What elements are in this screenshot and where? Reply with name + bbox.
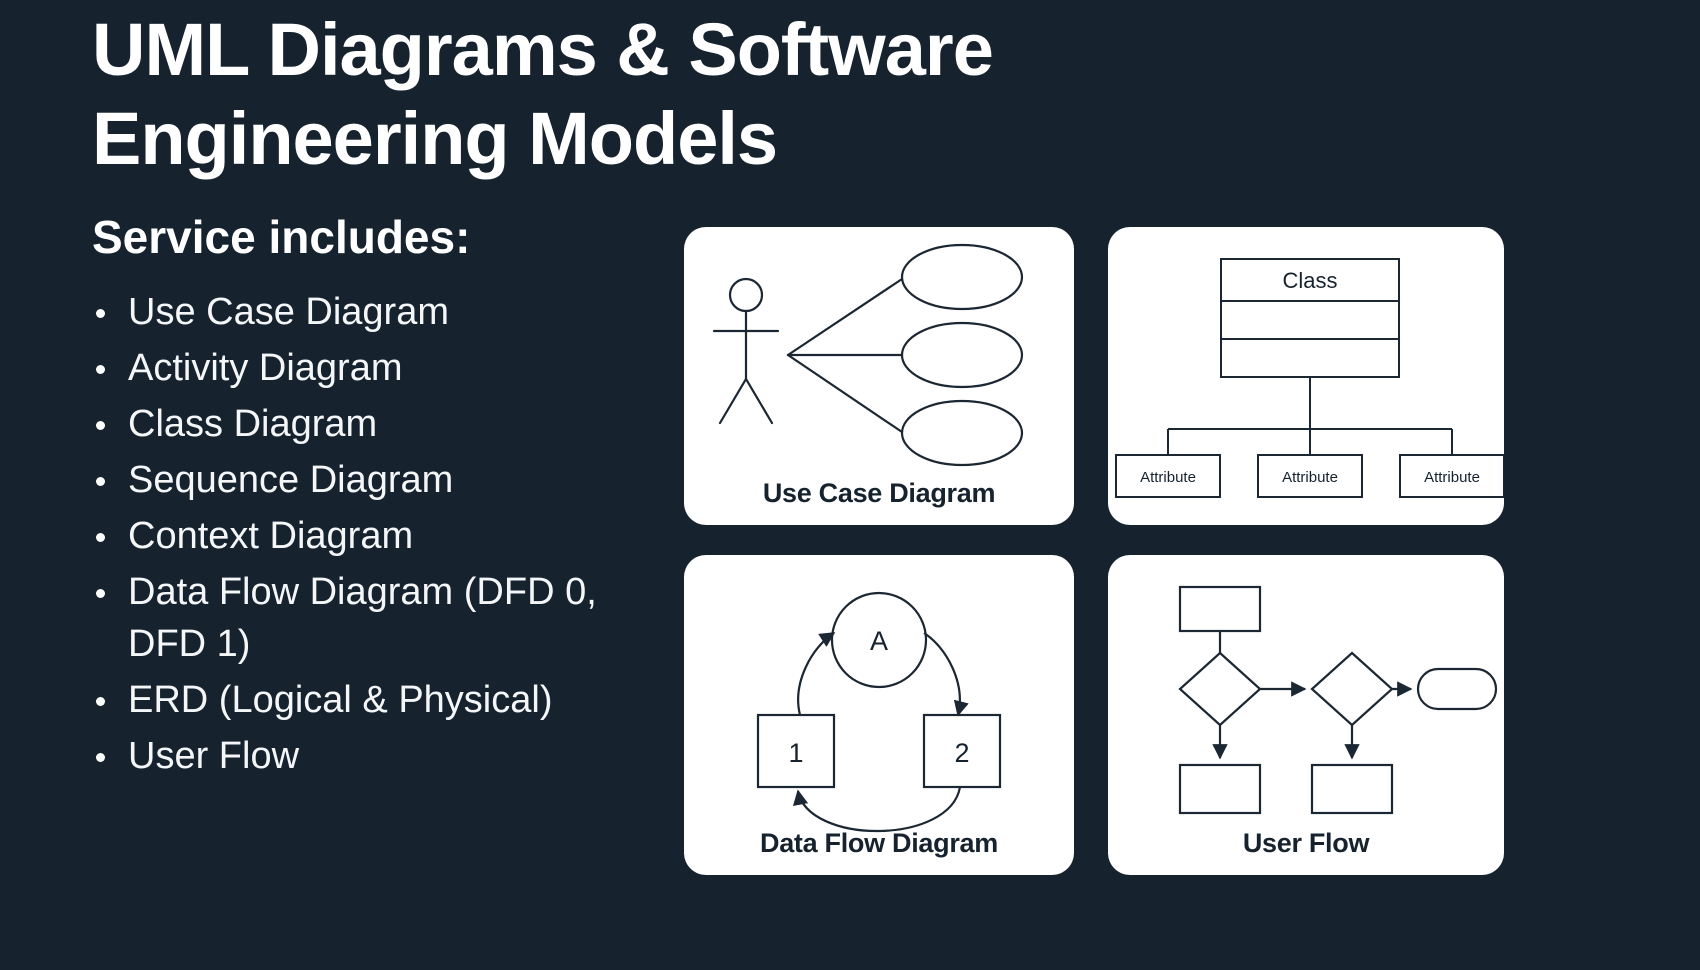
flow-pill-end bbox=[1418, 669, 1496, 709]
flow-diamond-1 bbox=[1180, 653, 1260, 725]
attribute-label: Attribute bbox=[1282, 469, 1338, 486]
user-flow-diagram-illustration bbox=[1108, 555, 1504, 875]
actor-head-icon bbox=[730, 279, 762, 311]
diagram-card-grid: Use Case Diagram bbox=[684, 227, 1504, 967]
list-item: Sequence Diagram bbox=[92, 454, 672, 506]
card-caption: Data Flow Diagram bbox=[684, 828, 1074, 859]
use-case-ellipse bbox=[902, 401, 1022, 465]
class-name-label: Class bbox=[1282, 268, 1337, 293]
list-item: Class Diagram bbox=[92, 398, 672, 450]
list-item: Data Flow Diagram (DFD 0, DFD 1) bbox=[92, 566, 672, 670]
list-item: User Flow bbox=[92, 730, 672, 782]
use-case-ellipse bbox=[902, 323, 1022, 387]
list-item: ERD (Logical & Physical) bbox=[92, 674, 672, 726]
card-caption: User Flow bbox=[1108, 828, 1504, 859]
page-title: UML Diagrams & Software Engineering Mode… bbox=[92, 0, 1272, 184]
card-user-flow-diagram: User Flow bbox=[1108, 555, 1504, 875]
services-heading: Service includes: bbox=[92, 184, 672, 264]
card-data-flow-diagram: A 1 2 خمسات Data Flow Diagram bbox=[684, 555, 1074, 875]
data-flow-diagram-illustration: A 1 2 bbox=[684, 555, 1074, 875]
use-case-ellipse bbox=[902, 245, 1022, 309]
list-item: Activity Diagram bbox=[92, 342, 672, 394]
class-attributes-compartment bbox=[1221, 301, 1399, 339]
card-class-diagram: Class Attribute Attribute Attribute bbox=[1108, 227, 1504, 525]
flow-rect-right bbox=[1312, 765, 1392, 813]
flow-diamond-2 bbox=[1312, 653, 1392, 725]
flow-arrow-1-to-a bbox=[798, 633, 834, 715]
flow-arrow-2-to-1 bbox=[798, 787, 960, 831]
node-label-2: 2 bbox=[954, 738, 969, 768]
card-use-case-diagram: Use Case Diagram bbox=[684, 227, 1074, 525]
flow-rect-left bbox=[1180, 765, 1260, 813]
services-list: Use Case Diagram Activity Diagram Class … bbox=[92, 264, 672, 782]
list-item: Context Diagram bbox=[92, 510, 672, 562]
slide-root: UML Diagrams & Software Engineering Mode… bbox=[0, 0, 1700, 970]
list-item: Use Case Diagram bbox=[92, 286, 672, 338]
flow-rect-start bbox=[1180, 587, 1260, 631]
class-diagram-illustration: Class Attribute Attribute Attribute bbox=[1108, 227, 1504, 525]
attribute-label: Attribute bbox=[1140, 469, 1196, 486]
attribute-label: Attribute bbox=[1424, 469, 1480, 486]
left-content-column: UML Diagrams & Software Engineering Mode… bbox=[92, 0, 672, 786]
node-label-a: A bbox=[870, 626, 888, 656]
flow-arrow-a-to-2 bbox=[924, 633, 960, 715]
card-caption: Use Case Diagram bbox=[684, 478, 1074, 509]
node-label-1: 1 bbox=[788, 738, 803, 768]
class-methods-compartment bbox=[1221, 339, 1399, 377]
